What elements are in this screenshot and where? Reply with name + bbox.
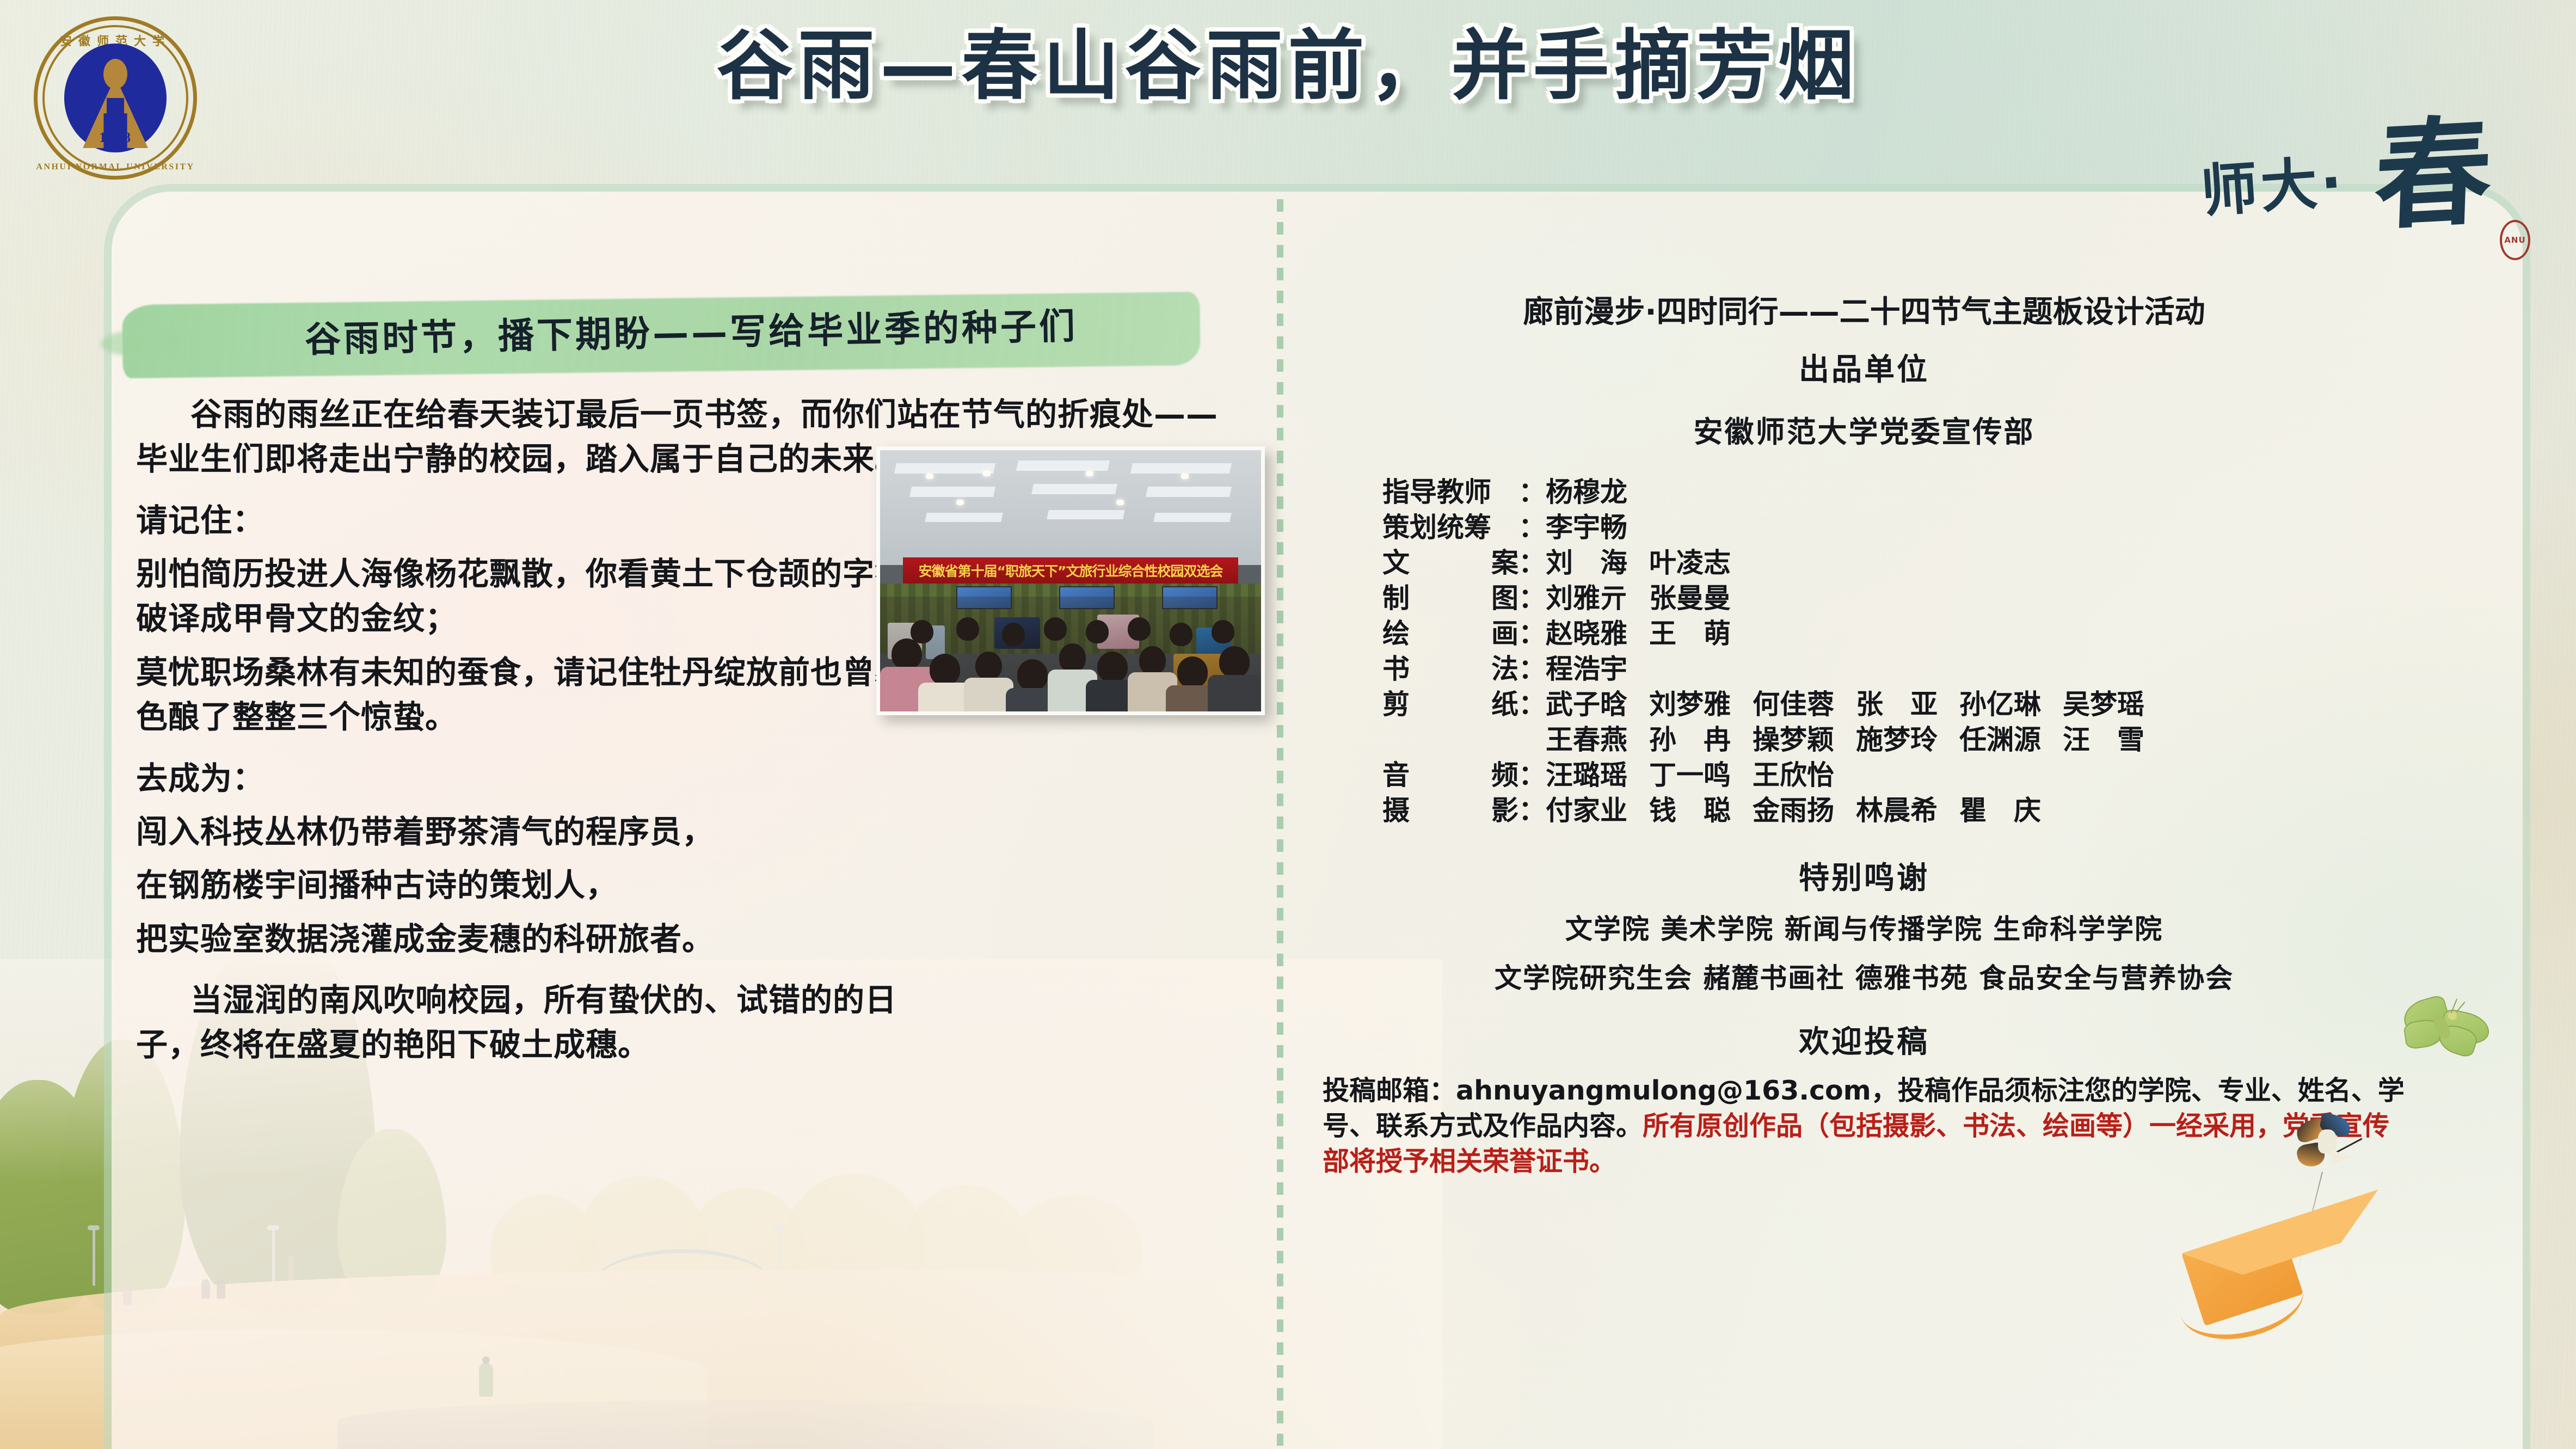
logo-english-name: ANHUI NORMAL UNIVERSITY [34,162,197,172]
butterfly-icon [2400,996,2493,1061]
credit-name: 瞿 庆 [1959,793,2041,828]
paragraph: 去成为： [136,756,1246,801]
credit-name: 叶凌志 [1649,545,1731,581]
credit-name: 杨穆龙 [1546,475,1627,510]
credit-role: 制图： [1382,581,1546,616]
credit-name: 操梦颖 [1753,722,1834,758]
right-column: 廊前漫步·四时同行——二十四节气主题板设计活动 出品单位 安徽师范大学党委宣传部… [1323,294,2406,1179]
credit-name: 何佳蓉 [1753,687,1834,722]
credit-name: 刘 海 [1546,545,1627,581]
seal-stamp-icon: ANU [2500,220,2530,260]
column-divider [1277,199,1283,1446]
credit-name: 付家业 [1546,793,1627,828]
credit-role: 指导教师： [1382,475,1546,510]
credit-name: 施梦玲 [1856,722,1938,758]
credit-role: 文案： [1382,545,1546,581]
credit-name: 孙亿琳 [1959,687,2041,722]
credit-name: 钱 聪 [1649,793,1731,828]
credit-row: 绘画：赵晓雅王 萌 [1382,616,2406,652]
credit-name: 张曼曼 [1649,581,1731,616]
credit-name: 王欣怡 [1753,758,1834,793]
credit-name: 汪璐瑶 [1546,758,1627,793]
credit-name: 金雨扬 [1753,793,1834,828]
credit-row: 文案：刘 海叶凌志 [1382,545,2406,581]
photo-banner-text: 安徽省第十届“职旅天下”文旅行业综合性校园双选会 [903,557,1238,584]
credit-names: 付家业钱 聪金雨扬林晨希瞿 庆 [1546,793,2041,828]
brand-calligraphy: 师大· 春 ANU [2195,121,2522,262]
logo-founding-year: 1928 [34,130,197,146]
credit-names: 李宇畅 [1546,510,1627,545]
paragraph: 把实验室数据浇灌成金麦穗的科研旅者。 [136,917,985,961]
credit-row: 策划统筹：李宇畅 [1382,510,2406,545]
credit-role: 摄影： [1382,793,1546,828]
credit-name: 汪 雪 [2063,722,2144,758]
paragraph: 闯入科技丛林仍带着野茶清气的程序员， [136,809,985,854]
credit-name: 刘梦雅 [1649,687,1731,722]
thanks-line: 文学院研究生会 赭麓书画社 德雅书苑 食品安全与营养协会 [1323,956,2406,996]
credit-name: 丁一鸣 [1649,758,1731,793]
credit-row: 王春燕孙 冉操梦颖施梦玲任渊源汪 雪 [1382,722,2406,758]
credits-list: 指导教师：杨穆龙策划统筹：李宇畅文案：刘 海叶凌志制图：刘雅亓张曼曼绘画：赵晓雅… [1323,475,2406,828]
credit-names: 刘雅亓张曼曼 [1546,581,1731,616]
credit-name: 刘雅亓 [1546,581,1627,616]
credit-names: 汪璐瑶丁一鸣王欣怡 [1546,758,1834,793]
credit-name: 程浩宇 [1546,652,1627,687]
credit-name: 林晨希 [1856,793,1938,828]
credit-names: 武子晗刘梦雅何佳蓉张 亚孙亿琳吴梦瑶 [1546,687,2144,722]
brand-shida-text: 师大· [2198,136,2347,228]
thanks-line: 文学院 美术学院 新闻与传播学院 生命科学学院 [1323,907,2406,947]
credit-role: 剪纸： [1382,687,1546,722]
producer-name: 安徽师范大学党委宣传部 [1323,408,2406,451]
page-title: 谷雨—春山谷雨前，并手摘芳烟 [0,19,2576,114]
masthead: 安徽师范大学 1928 ANHUI NORMAL UNIVERSITY 谷雨—春… [0,0,2576,192]
credit-name: 武子晗 [1546,687,1627,722]
credit-names: 刘 海叶凌志 [1546,545,1731,581]
credit-row: 音频：汪璐瑶丁一鸣王欣怡 [1382,758,2406,793]
credit-row: 制图：刘雅亓张曼曼 [1382,581,2406,616]
credit-names: 程浩宇 [1546,652,1627,687]
credit-row: 指导教师：杨穆龙 [1382,475,2406,510]
credit-name: 李宇畅 [1546,510,1627,545]
credit-name: 王春燕 [1546,722,1627,758]
job-fair-photo: 安徽省第十届“职旅天下”文旅行业综合性校园双选会 [876,446,1265,715]
paragraph: 在钢筋楼宇间播种古诗的策划人， [136,863,985,907]
credit-names: 杨穆龙 [1546,475,1627,510]
credit-row: 摄影：付家业钱 聪金雨扬林晨希瞿 庆 [1382,793,2406,828]
paragraph: 当湿润的南风吹响校园，所有蛰伏的、试错的的日子，终将在盛夏的艳阳下破土成穗。 [136,978,952,1067]
credit-role: 音频： [1382,758,1546,793]
thanks-title: 特别鸣谢 [1323,854,2406,898]
credit-name: 任渊源 [1959,722,2041,758]
credit-name: 张 亚 [1856,687,1938,722]
credit-names: 王春燕孙 冉操梦颖施梦玲任渊源汪 雪 [1546,722,2144,758]
credit-name: 孙 冉 [1649,722,1731,758]
credit-role: 策划统筹： [1382,510,1546,545]
credit-row: 剪纸：武子晗刘梦雅何佳蓉张 亚孙亿琳吴梦瑶 [1382,687,2406,722]
credit-role: 书法： [1382,652,1546,687]
credit-row: 书法：程浩宇 [1382,652,2406,687]
credit-names: 赵晓雅王 萌 [1546,616,1731,652]
activity-title: 廊前漫步·四时同行——二十四节气主题板设计活动 [1323,294,2406,331]
producer-label: 出品单位 [1323,345,2406,389]
brand-chun-character: 春 [2372,112,2493,236]
submission-body: 投稿邮箱：ahnuyangmulong@163.com，投稿作品须标注您的学院、… [1323,1073,2406,1179]
credit-name: 王 萌 [1649,616,1731,652]
submission-title: 欢迎投稿 [1323,1017,2406,1061]
left-section-header: 谷雨时节，播下期盼——写给毕业季的种子们 [136,294,1246,392]
credit-name: 赵晓雅 [1546,616,1627,652]
credit-role: 绘画： [1382,616,1546,652]
kite-icon [2294,1113,2365,1206]
credit-name: 吴梦瑶 [2063,687,2144,722]
